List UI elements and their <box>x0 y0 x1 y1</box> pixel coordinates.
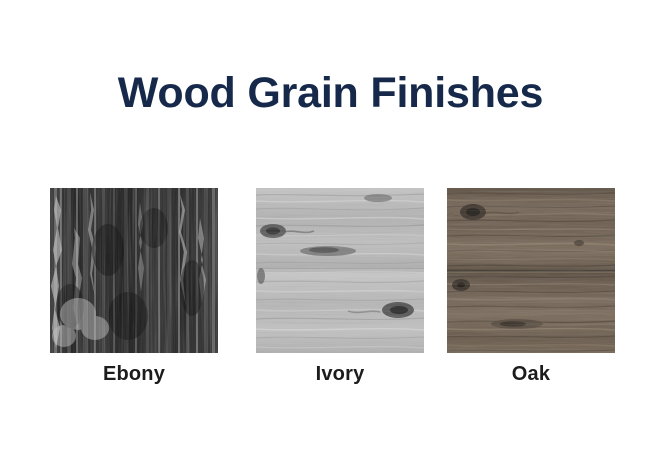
slide-canvas: Wood Grain Finishes <box>0 0 661 472</box>
finish-card-ivory[interactable]: Ivory <box>256 188 424 386</box>
oak-grain-texture <box>447 188 615 353</box>
finish-label-oak: Oak <box>447 362 615 386</box>
finish-label-ivory: Ivory <box>256 362 424 386</box>
wood-swatch-ebony[interactable] <box>50 188 218 353</box>
swatch-row: Ebony <box>0 188 661 388</box>
finish-card-oak[interactable]: Oak <box>447 188 615 386</box>
finish-label-ebony: Ebony <box>50 362 218 386</box>
wood-swatch-oak[interactable] <box>447 188 615 353</box>
page-title: Wood Grain Finishes <box>0 68 661 118</box>
ivory-grain-texture <box>256 188 424 353</box>
finish-card-ebony[interactable]: Ebony <box>50 188 218 386</box>
ebony-grain-texture <box>50 188 218 353</box>
wood-swatch-ivory[interactable] <box>256 188 424 353</box>
